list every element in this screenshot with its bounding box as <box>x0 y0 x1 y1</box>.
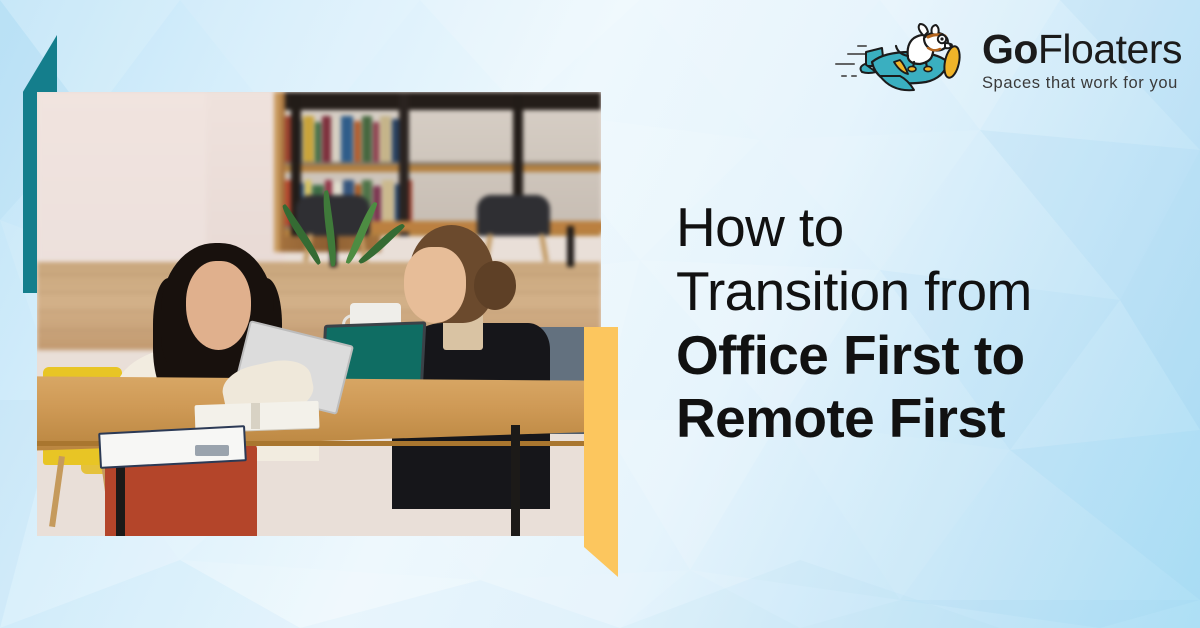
brand-go: Go <box>982 26 1038 72</box>
bookshelf-row <box>285 116 601 162</box>
dog-on-airplane-icon <box>832 22 972 98</box>
yellow-accent-bar <box>584 327 618 577</box>
headline: How to Transition from Office First to R… <box>676 196 1186 451</box>
gofloaters-logo[interactable]: GoFloaters Spaces that work for you <box>832 22 1182 98</box>
brand-floaters: Floaters <box>1038 26 1182 72</box>
photo-scene <box>37 92 601 536</box>
bookshelf-post <box>399 92 409 236</box>
chair-leg <box>539 233 549 262</box>
logo-wordmark: GoFloaters Spaces that work for you <box>982 29 1182 92</box>
bookshelf-top-beam <box>285 92 601 110</box>
background-table-leg <box>567 226 574 267</box>
table-leg <box>511 425 520 536</box>
headline-line-3: Office First to <box>676 324 1186 388</box>
logo-tagline: Spaces that work for you <box>982 75 1182 92</box>
headline-line-1: How to <box>676 196 1186 260</box>
headline-line-4: Remote First <box>676 387 1186 451</box>
clipboard-clip <box>195 445 229 456</box>
background-chair <box>477 195 550 236</box>
hero-photo <box>37 92 601 536</box>
notebook-spine <box>251 403 259 430</box>
potted-plant-back <box>296 190 398 305</box>
woman-right-face <box>404 247 466 322</box>
woman-left-face <box>186 261 251 350</box>
woman-right-hair-bun <box>474 261 516 310</box>
brand-name: GoFloaters <box>982 29 1182 70</box>
headline-line-2: Transition from <box>676 260 1186 324</box>
blog-banner: GoFloaters Spaces that work for you How … <box>0 0 1200 628</box>
